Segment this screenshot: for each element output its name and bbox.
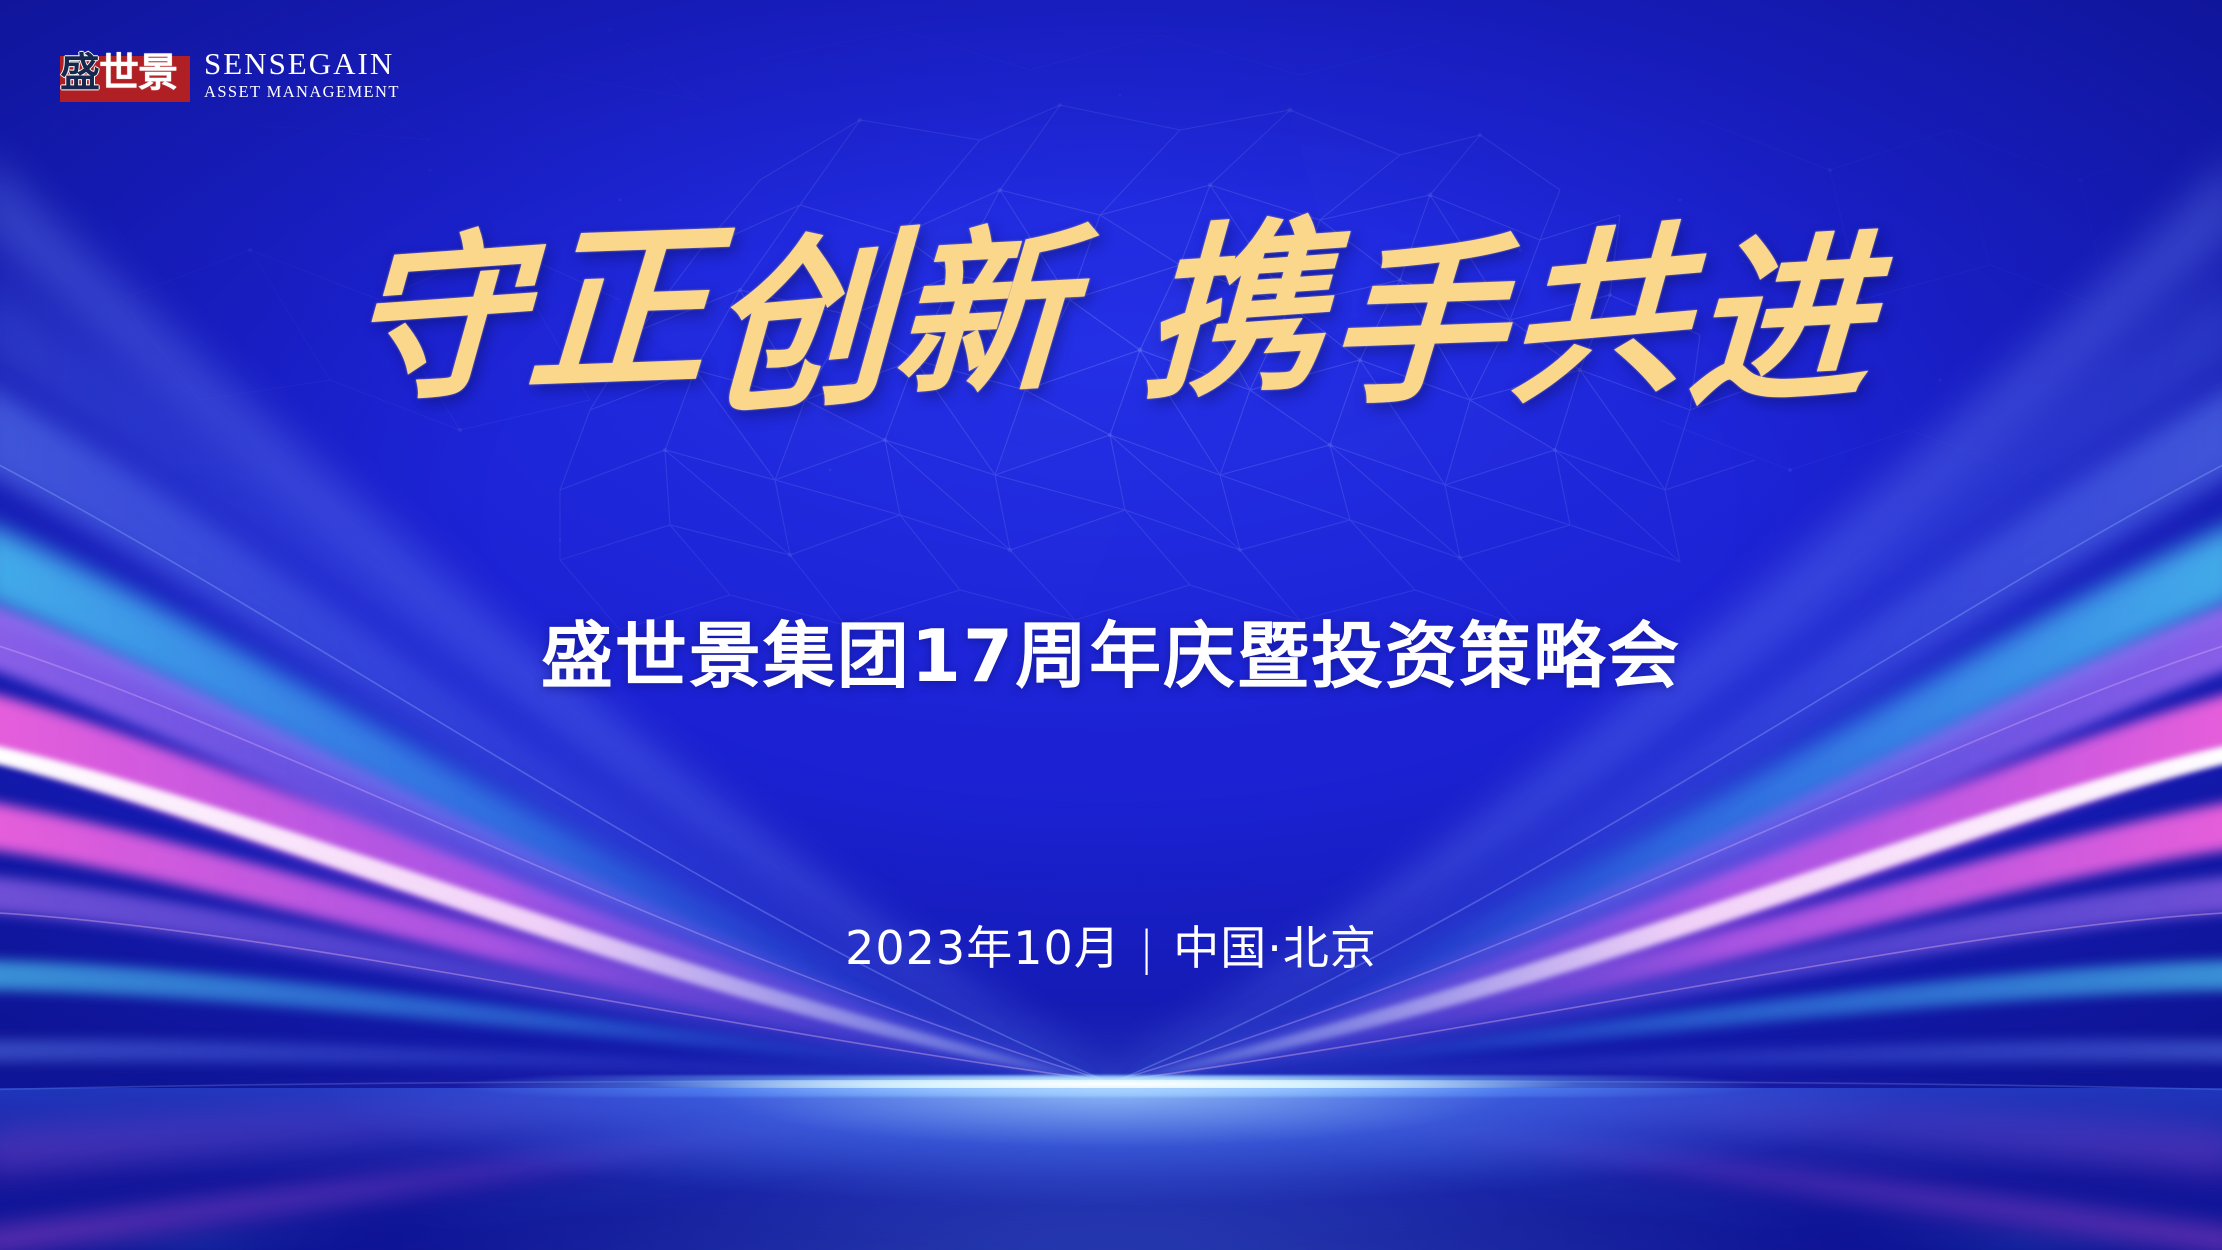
logo-en-primary: SENSEGAIN [204, 48, 400, 79]
title-char-7: 共 [1505, 218, 1696, 415]
logo-en-secondary: ASSET MANAGEMENT [204, 84, 400, 101]
title-char-6: 手 [1323, 233, 1514, 416]
title-char-3: 创 [704, 225, 901, 428]
event-date: 2023年10月 [845, 921, 1121, 975]
title-char-2: 正 [524, 217, 719, 403]
logo-chars-shijing: 世景 [99, 49, 177, 96]
title-char-5: 携 [1140, 213, 1335, 410]
logo-mark: 盛世景 [60, 40, 190, 102]
event-meta: 2023年10月|中国·北京 [0, 925, 2222, 971]
page-subtitle: 盛世景集团17周年庆暨投资策略会 [0, 620, 2222, 692]
horizon-core-glow [0, 1080, 2222, 1088]
logo-chinese-name: 盛世景 [60, 40, 190, 106]
event-location: 中国·北京 [1173, 921, 1377, 975]
title-char-1: 守 [345, 225, 533, 415]
page-title: 守正创新携手共进 [0, 228, 2222, 404]
meta-separator: | [1121, 925, 1174, 971]
title-char-4: 新 [890, 221, 1081, 407]
logo-wordmark: SENSEGAIN ASSET MANAGEMENT [204, 48, 400, 103]
logo-char-sheng: 盛 [60, 49, 99, 96]
brand-logo[interactable]: 盛世景 SENSEGAIN ASSET MANAGEMENT [60, 40, 400, 102]
title-char-8: 进 [1684, 226, 1881, 418]
event-banner: 盛世景 SENSEGAIN ASSET MANAGEMENT 守正创新携手共进 … [0, 0, 2222, 1250]
floor-reflection [0, 1088, 2222, 1250]
